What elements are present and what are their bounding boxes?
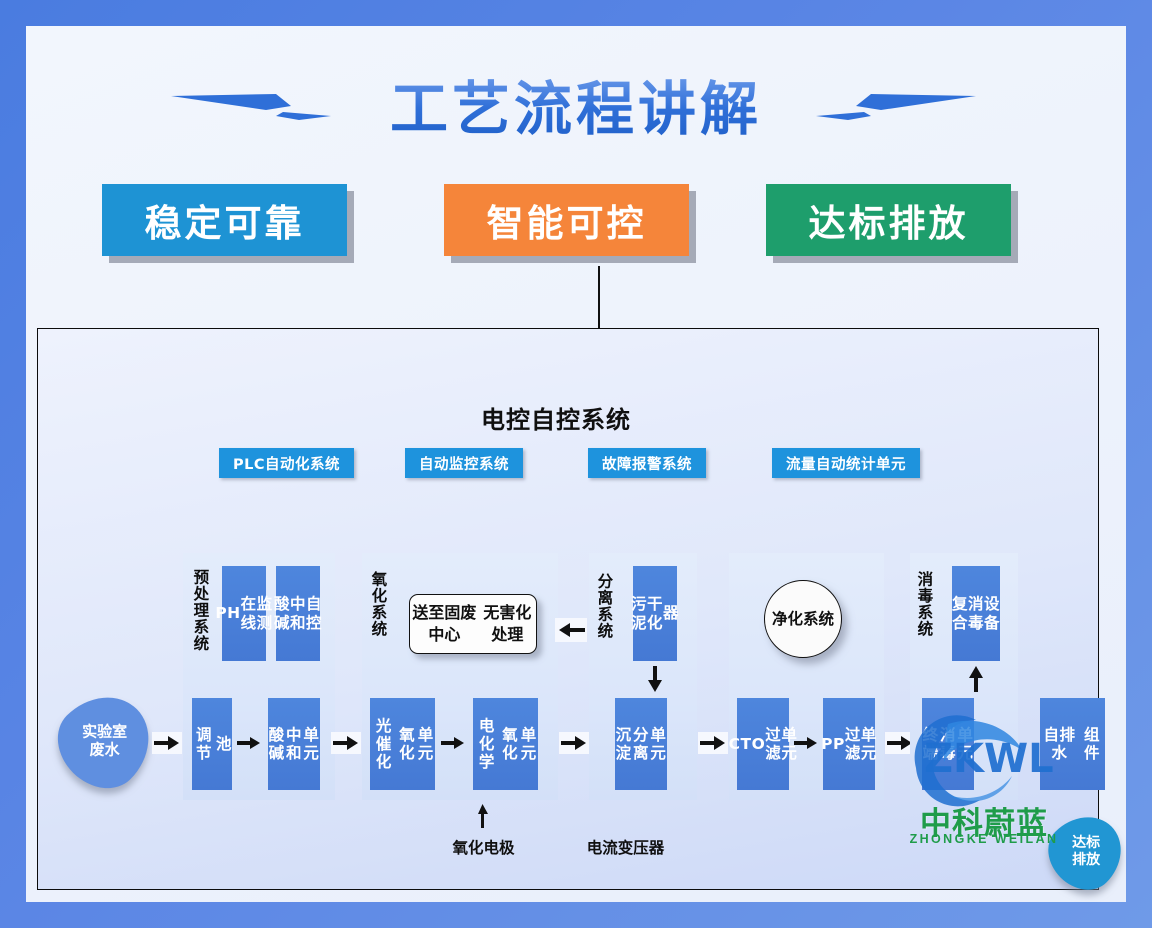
caption-oxidation-electrode: 氧化电极 bbox=[421, 836, 546, 858]
box-equalization-tank[interactable]: 调节池 bbox=[192, 698, 232, 790]
arrow-cto-to-pp bbox=[793, 734, 819, 752]
input-water-droplet: 实验室 废水 bbox=[41, 677, 168, 804]
output-label-line2: 排放 bbox=[1072, 852, 1100, 868]
input-label-line2: 废水 bbox=[90, 741, 120, 759]
box-terminal-disinfection-unit[interactable]: 终端消毒单元 bbox=[922, 698, 974, 790]
circle-purification-system: 净化系统 bbox=[764, 580, 842, 658]
arrow-oxidation-to-separation bbox=[559, 732, 589, 754]
box-ph-online-monitor[interactable]: PH在线监测 bbox=[222, 566, 266, 661]
box-composite-disinfection-equipment[interactable]: 复合消毒设备 bbox=[952, 566, 1000, 661]
box-sludge-dryer[interactable]: 污泥干化器 bbox=[633, 566, 677, 661]
box-settling-separation-unit[interactable]: 沉淀分离单元 bbox=[615, 698, 667, 790]
box-acid-base-auto-control[interactable]: 酸碱中和自控 bbox=[276, 566, 320, 661]
arrow-dryer-to-settling bbox=[642, 666, 668, 692]
box-cto-filter-unit[interactable]: CTO过滤单元 bbox=[737, 698, 789, 790]
arrow-input-to-pretreatment bbox=[152, 732, 182, 754]
caption-current-transformer: 电流变压器 bbox=[563, 836, 688, 858]
watermark-company-en: ZHONGKE WEILAN bbox=[884, 832, 1084, 846]
box-pp-filter-unit[interactable]: PP过滤单元 bbox=[823, 698, 875, 790]
box-acid-base-neutralization-unit[interactable]: 酸碱中和单元 bbox=[268, 698, 320, 790]
arrow-tank-to-neutralization bbox=[236, 734, 262, 752]
box-auto-drain-assembly[interactable]: 自排水组件 bbox=[1040, 698, 1105, 790]
input-label-line1: 实验室 bbox=[82, 723, 127, 741]
arrow-photocatalytic-to-electrochemical bbox=[440, 734, 466, 752]
arrow-pretreatment-to-oxidation bbox=[331, 732, 361, 754]
arrow-sludge-return-to-oxidation bbox=[555, 618, 587, 642]
arrow-terminal-to-composite bbox=[969, 666, 983, 692]
group-label-oxidation: 氧化系统 bbox=[370, 571, 386, 637]
box-electrochemical-oxidation-unit[interactable]: 电化学氧化单元 bbox=[473, 698, 538, 790]
note-solid-waste-center: 送至固废中心无害化处理 bbox=[409, 594, 537, 654]
box-photocatalytic-oxidation-unit[interactable]: 光催化氧化单元 bbox=[370, 698, 435, 790]
group-label-separation: 分离系统 bbox=[596, 573, 612, 639]
group-label-disinfection: 消毒系统 bbox=[916, 571, 932, 637]
process-flow: 实验室 废水 预处理系统 PH在线监测 酸碱中和自控 调节池 酸碱中和单元 氧化… bbox=[26, 26, 1126, 902]
arrow-oxidation-electrode bbox=[476, 804, 490, 828]
slide-canvas: 工艺流程讲解 稳定可靠 智能可控 达标排放 电控自控系统 PLC自动化系统 bbox=[26, 26, 1126, 902]
group-label-pretreatment: 预处理系统 bbox=[192, 569, 208, 652]
arrow-separation-to-purification bbox=[698, 732, 728, 754]
